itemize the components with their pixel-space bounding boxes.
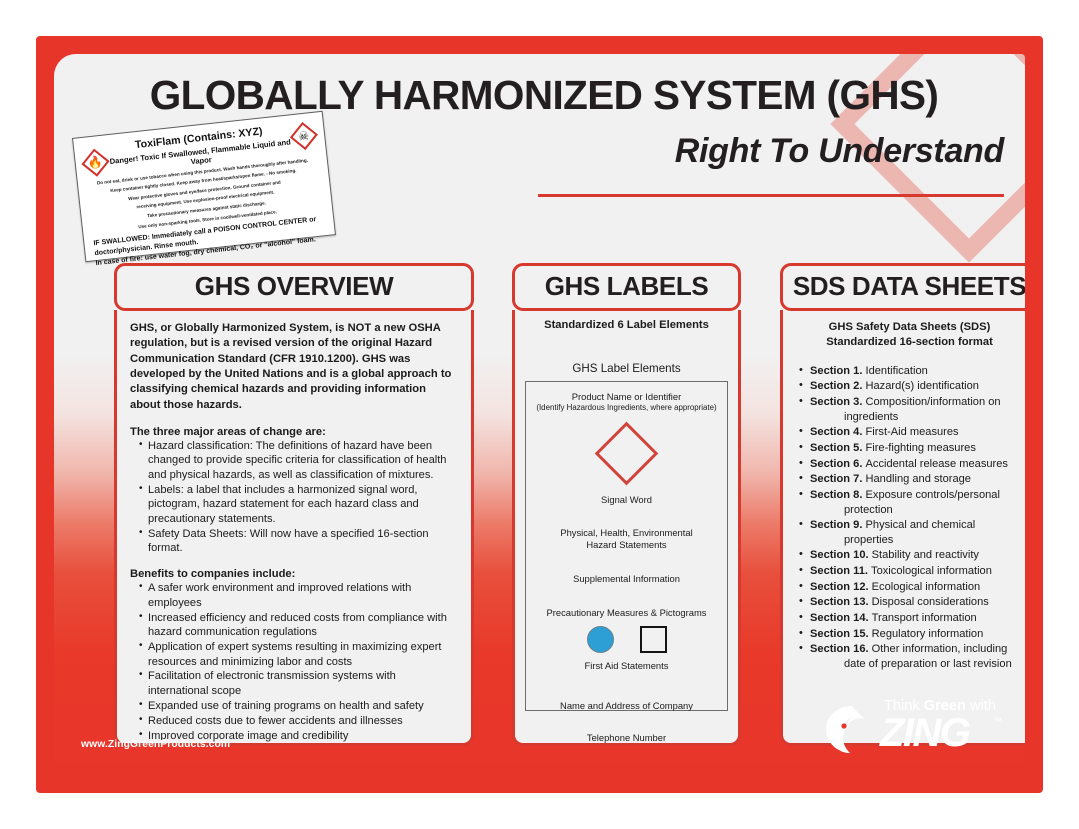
- overview-intro: GHS, or Globally Harmonized System, is N…: [130, 321, 458, 413]
- sds-section-item: Section 15. Regulatory information: [799, 627, 1025, 642]
- sds-section-item: Section 8. Exposure controls/personalpro…: [799, 488, 1025, 517]
- panel-ghs-overview: GHS OVERVIEW GHS, or Globally Harmonized…: [114, 263, 474, 746]
- sds-section-item: Section 16. Other information, including…: [799, 642, 1025, 671]
- flame-pictogram: 🔥: [80, 147, 110, 177]
- poster-frame: GLOBALLY HARMONIZED SYSTEM (GHS) Right T…: [36, 36, 1043, 793]
- zing-logo: Think Green with ZING ™: [822, 696, 1002, 758]
- sds-section-text-continued: ingredients: [810, 410, 1025, 425]
- sds-section-item: Section 5. Fire-fighting measures: [799, 441, 1025, 456]
- sds-section-item: Section 4. First-Aid measures: [799, 425, 1025, 440]
- sds-section-item: Section 7. Handling and storage: [799, 472, 1025, 487]
- sds-section-list: Section 1. IdentificationSection 2. Haza…: [799, 364, 1025, 672]
- sds-section-text: Fire-fighting measures: [866, 442, 976, 454]
- list-item: Expanded use of training programs on hea…: [139, 699, 458, 713]
- sds-section-text: First-Aid measures: [866, 426, 959, 438]
- panel-ghs-labels-body: Standardized 6 Label Elements GHS Label …: [512, 310, 741, 746]
- panel-sds-heading: SDS DATA SHEETS: [780, 263, 1025, 311]
- sds-section-item: Section 10. Stability and reactivity: [799, 548, 1025, 563]
- list-item: Application of expert systems resulting …: [139, 640, 458, 669]
- title-divider: [538, 194, 1004, 197]
- skull-pictogram-glyph: ☠: [289, 121, 319, 151]
- sds-section-item: Section 13. Disposal considerations: [799, 595, 1025, 610]
- panel-sds-data-sheets: SDS DATA SHEETS GHS Safety Data Sheets (…: [780, 263, 1025, 746]
- sds-section-label: Section 1.: [810, 365, 866, 377]
- label-element-hazard-statements-1: Physical, Health, Environmental: [532, 527, 721, 539]
- website-url[interactable]: www.ZingGreenProducts.com: [81, 739, 230, 750]
- zing-tagline-post: with: [966, 698, 996, 714]
- list-item: Labels: a label that includes a harmoniz…: [139, 483, 458, 526]
- sds-section-label: Section 6.: [810, 458, 866, 470]
- sds-section-item: Section 6. Accidental release measures: [799, 457, 1025, 472]
- overview-changes-list: Hazard classification: The definitions o…: [139, 439, 458, 555]
- panel-ghs-overview-heading: GHS OVERVIEW: [114, 263, 474, 311]
- skull-crossbones-pictogram: ☠: [289, 121, 319, 151]
- hazard-diamond-icon: [595, 421, 659, 485]
- sds-section-item: Section 12. Ecological information: [799, 580, 1025, 595]
- overview-benefits-heading: Benefits to companies include:: [130, 568, 458, 580]
- list-item: Increased efficiency and reduced costs f…: [139, 611, 458, 640]
- sds-section-text: Regulatory information: [872, 628, 984, 640]
- sds-section-label: Section 4.: [810, 426, 866, 438]
- poster-page: GLOBALLY HARMONIZED SYSTEM (GHS) Right T…: [54, 54, 1025, 775]
- list-item: A safer work environment and improved re…: [139, 581, 458, 610]
- sds-section-label: Section 8.: [810, 489, 866, 501]
- list-item: Reduced costs due to fewer accidents and…: [139, 714, 458, 728]
- sds-section-label: Section 5.: [810, 442, 866, 454]
- sds-section-text: Other information, including: [872, 643, 1008, 655]
- sds-section-label: Section 15.: [810, 628, 872, 640]
- sds-section-label: Section 13.: [810, 596, 872, 608]
- panel-sds-body: GHS Safety Data Sheets (SDS) Standardize…: [780, 310, 1025, 746]
- list-item: Safety Data Sheets: Will now have a spec…: [139, 527, 458, 556]
- label-element-company: Name and Address of Company: [532, 700, 721, 712]
- sds-section-text: Accidental release measures: [866, 458, 1008, 470]
- leaf-hand-logo-icon: [822, 702, 874, 756]
- sds-section-text: Toxicological information: [871, 565, 992, 577]
- sds-section-text-continued: properties: [810, 533, 1025, 548]
- page-title: GLOBALLY HARMONIZED SYSTEM (GHS): [84, 72, 1004, 119]
- label-element-supplemental: Supplemental Information: [532, 573, 721, 585]
- sds-subtitle: GHS Safety Data Sheets (SDS) Standardize…: [791, 320, 1025, 350]
- zing-trademark-symbol: ™: [993, 716, 1002, 726]
- sds-section-text: Hazard(s) identification: [866, 380, 979, 392]
- sds-section-text: Physical and chemical: [866, 519, 976, 531]
- sds-section-text: Disposal considerations: [872, 596, 989, 608]
- sds-section-text-continued: protection: [810, 503, 1025, 518]
- sds-section-item: Section 2. Hazard(s) identification: [799, 379, 1025, 394]
- sds-section-text: Exposure controls/personal: [866, 489, 1000, 501]
- panel-ghs-overview-body: GHS, or Globally Harmonized System, is N…: [114, 310, 474, 746]
- sds-section-label: Section 12.: [810, 581, 872, 593]
- label-element-hazard-statements-2: Hazard Statements: [532, 539, 721, 551]
- sds-section-text: Composition/information on: [866, 396, 1001, 408]
- list-item: Hazard classification: The definitions o…: [139, 439, 458, 482]
- panel-ghs-labels: GHS LABELS Standardized 6 Label Elements…: [512, 263, 741, 746]
- sds-section-label: Section 16.: [810, 643, 872, 655]
- labels-subtitle: Standardized 6 Label Elements: [525, 319, 728, 331]
- label-element-identify-note: (Identify Hazardous Ingredients, where a…: [532, 403, 721, 413]
- sds-section-item: Section 1. Identification: [799, 364, 1025, 379]
- sds-section-text: Stability and reactivity: [872, 549, 979, 561]
- sds-section-item: Section 11. Toxicological information: [799, 564, 1025, 579]
- sds-section-label: Section 14.: [810, 612, 872, 624]
- label-element-product-name: Product Name or Identifier: [532, 391, 721, 403]
- sds-section-text: Identification: [866, 365, 928, 377]
- ghs-label-elements-box: Product Name or Identifier (Identify Haz…: [525, 381, 728, 711]
- sds-section-item: Section 9. Physical and chemicalproperti…: [799, 518, 1025, 547]
- panel-ghs-labels-heading: GHS LABELS: [512, 263, 741, 311]
- sds-section-text: Handling and storage: [866, 473, 971, 485]
- overview-changes-heading: The three major areas of change are:: [130, 426, 458, 438]
- sds-section-text: Ecological information: [872, 581, 981, 593]
- sds-section-label: Section 11.: [810, 565, 871, 577]
- sds-section-text: Transport information: [872, 612, 977, 624]
- sds-subtitle-line1: GHS Safety Data Sheets (SDS): [791, 320, 1025, 335]
- blue-circle-icon: [587, 626, 614, 653]
- label-element-first-aid: First Aid Statements: [532, 660, 721, 672]
- sds-section-text-continued: date of preparation or last revision: [810, 657, 1025, 672]
- label-element-precautionary: Precautionary Measures & Pictograms: [532, 607, 721, 619]
- sds-section-label: Section 7.: [810, 473, 866, 485]
- black-square-icon: [640, 626, 667, 653]
- page-subtitle: Right To Understand: [675, 132, 1004, 171]
- flame-pictogram-glyph: 🔥: [80, 147, 110, 177]
- zing-wordmark: ZING: [880, 713, 970, 753]
- label-element-telephone: Telephone Number: [532, 732, 721, 744]
- sds-section-label: Section 3.: [810, 396, 866, 408]
- sds-section-item: Section 14. Transport information: [799, 611, 1025, 626]
- sds-section-label: Section 2.: [810, 380, 866, 392]
- sds-section-item: Section 3. Composition/information oning…: [799, 395, 1025, 424]
- list-item: Facilitation of electronic transmission …: [139, 669, 458, 698]
- sds-section-label: Section 9.: [810, 519, 866, 531]
- sample-ghs-label: 🔥 ☠ ToxiFlam (Contains: XYZ) Danger! Tox…: [72, 111, 336, 262]
- overview-benefits-list: A safer work environment and improved re…: [139, 581, 458, 743]
- labels-box-title: GHS Label Elements: [525, 362, 728, 375]
- label-element-signal-word: Signal Word: [532, 494, 721, 506]
- sds-subtitle-line2: Standardized 16-section format: [791, 335, 1025, 350]
- label-pictogram-shapes: [532, 626, 721, 653]
- sds-section-label: Section 10.: [810, 549, 872, 561]
